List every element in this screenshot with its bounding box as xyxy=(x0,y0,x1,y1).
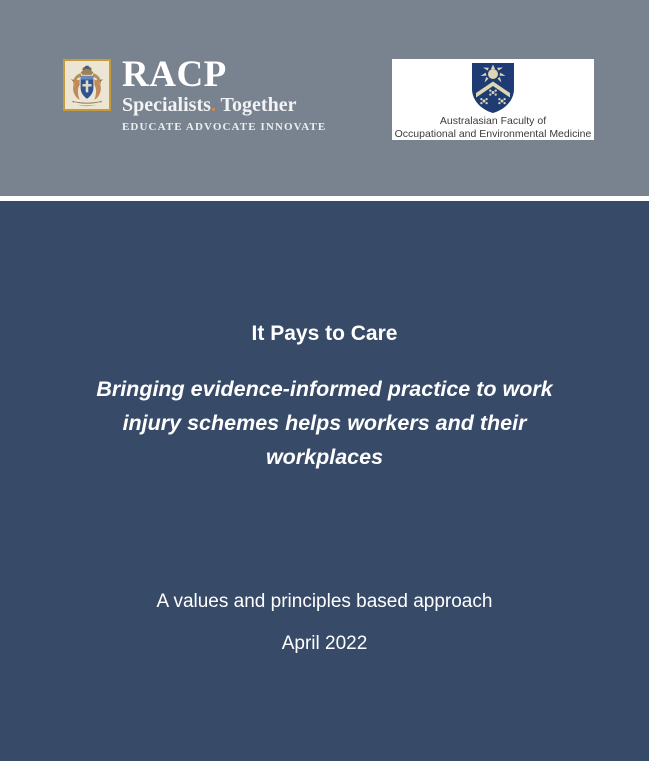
racp-tagline-second: Together xyxy=(221,94,297,116)
racp-wordmark: RACP Specialists. Together EDUCATE ADVOC… xyxy=(122,57,326,134)
afoem-shield-icon xyxy=(470,61,516,115)
afoem-logo: Australasian Faculty of Occupational and… xyxy=(392,59,594,140)
afoem-caption: Australasian Faculty of Occupational and… xyxy=(388,115,598,141)
racp-coat-of-arms-icon xyxy=(63,59,111,111)
racp-tagline: Specialists. Together xyxy=(122,94,296,116)
racp-tagline-first: Specialists xyxy=(122,94,211,116)
approach-line: A values and principles based approach xyxy=(0,590,649,614)
page-subtitle: Bringing evidence-informed practice to w… xyxy=(72,372,577,474)
afoem-caption-line1: Australasian Faculty of xyxy=(388,115,598,128)
publication-date: April 2022 xyxy=(0,632,649,656)
racp-name: RACP xyxy=(122,57,227,93)
header-band: RACP Specialists. Together EDUCATE ADVOC… xyxy=(0,0,649,196)
racp-values-line: EDUCATE ADVOCATE INNOVATE xyxy=(122,120,326,134)
cover-body-panel: It Pays to Care Bringing evidence-inform… xyxy=(0,201,649,761)
page-title: It Pays to Care xyxy=(0,321,649,347)
racp-tagline-separator: . xyxy=(211,94,216,116)
afoem-caption-line2: Occupational and Environmental Medicine xyxy=(388,128,598,141)
document-cover-page: RACP Specialists. Together EDUCATE ADVOC… xyxy=(0,0,649,768)
racp-logo: RACP Specialists. Together EDUCATE ADVOC… xyxy=(63,57,326,134)
